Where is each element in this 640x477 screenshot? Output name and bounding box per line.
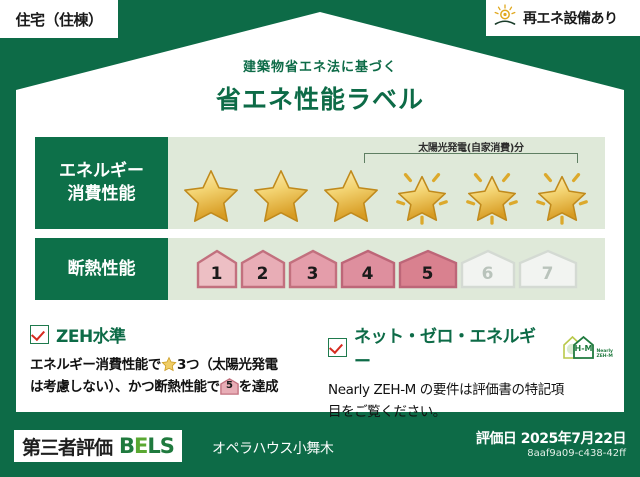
net-zero-energy-block: ネット・ゼロ・エネルギー H-M Nearly ZEH-M Nearly ZEH…	[328, 322, 613, 424]
energy-performance-row: エネルギー 消費性能 太陽光発電(自家消費)分	[35, 137, 605, 229]
renewable-equipment-tag: 再エネ設備あり	[486, 0, 640, 36]
energy-header-line1: エネルギー	[59, 160, 144, 183]
bels-logo-e: E	[134, 434, 147, 458]
grade-value: 3	[307, 264, 319, 289]
zeh-desc-part-b: は考慮しない）、かつ断熱性能で	[30, 379, 220, 395]
insulation-header-label: 断熱性能	[68, 258, 136, 281]
star-solar	[461, 165, 523, 227]
grade-value: 5	[422, 264, 434, 289]
nze-desc-part-a: Nearly ZEH-M の要件は評価書の特記項	[328, 382, 564, 398]
housing-type-label: 住宅（住棟）	[15, 9, 102, 30]
bels-logo: BELS	[119, 434, 174, 458]
star-solar	[391, 165, 453, 227]
housing-type-tag: 住宅（住棟）	[0, 0, 118, 38]
net-zero-energy-title: ネット・ゼロ・エネルギー	[354, 322, 551, 372]
svg-text:H-M: H-M	[575, 344, 593, 353]
check-icon	[328, 338, 347, 357]
grade-badge-3: 3	[288, 249, 338, 289]
net-zero-energy-header: ネット・ゼロ・エネルギー H-M Nearly ZEH-M	[328, 322, 613, 372]
energy-performance-header: エネルギー 消費性能	[35, 137, 168, 229]
inline-house-value: 5	[220, 378, 239, 395]
zeh-desc-star-count: 3つ（太陽光発電	[177, 357, 278, 373]
page-title: 省エネ性能ラベル	[0, 80, 640, 116]
grade-badge-1: 1	[196, 249, 238, 289]
zeh-standard-title: ZEH水準	[56, 322, 126, 347]
building-name: オペラハウス小舞木	[212, 438, 333, 458]
energy-star-area: 太陽光発電(自家消費)分	[168, 137, 605, 229]
grade-badge-4: 4	[340, 249, 396, 289]
grade-value: 6	[482, 264, 494, 289]
zeh-desc-part-c: を達成	[239, 379, 278, 395]
zeh-desc-part-a: エネルギー消費性能で	[30, 357, 161, 373]
footer-bar: 第三者評価 BELS オペラハウス小舞木 評価日 2025年7月22日 8aaf…	[0, 420, 640, 477]
solar-sun-icon	[492, 3, 518, 33]
title-subtitle: 建築物省エネ法に基づく	[0, 56, 640, 75]
energy-header-line2: 消費性能	[68, 183, 136, 206]
inline-star-icon	[161, 356, 177, 372]
insulation-grade-scale: 1 2 3	[168, 238, 605, 300]
zeh-standard-block: ZEH水準 エネルギー消費性能で3つ（太陽光発電は考慮しない）、かつ断熱性能で5…	[30, 322, 315, 399]
zeh-m-logo-sub2: ZEH-M	[596, 354, 612, 359]
grade-value: 4	[362, 264, 374, 289]
bels-logo-b: B	[119, 434, 134, 458]
zeh-standard-description: エネルギー消費性能で3つ（太陽光発電は考慮しない）、かつ断熱性能で5を達成	[30, 355, 315, 399]
grade-badge-6: 6	[460, 249, 516, 289]
evaluation-date-value: 2025年7月22日	[521, 431, 626, 447]
title-block: 建築物省エネ法に基づく 省エネ性能ラベル	[0, 56, 640, 116]
star-filled	[180, 165, 242, 227]
insulation-grade-area: 1 2 3	[168, 238, 605, 300]
renewable-equipment-label: 再エネ設備あり	[523, 8, 618, 28]
nze-desc-part-b: 目をご覧ください。	[328, 404, 446, 420]
check-icon	[30, 325, 49, 344]
grade-value: 7	[542, 264, 554, 289]
grade-value: 1	[211, 264, 223, 289]
zeh-m-logo-icon: H-M Nearly ZEH-M	[561, 334, 613, 360]
bels-logo-ls: LS	[147, 434, 174, 458]
insulation-performance-row: 断熱性能 1 2	[35, 238, 605, 300]
third-party-eval-label: 第三者評価	[22, 433, 112, 460]
grade-badge-2: 2	[240, 249, 286, 289]
grade-badge-7: 7	[518, 249, 578, 289]
evaluation-id: 8aaf9a09-c438-42ff	[527, 448, 626, 459]
star-solar	[531, 165, 593, 227]
bels-evaluation-chip: 第三者評価 BELS	[14, 430, 182, 462]
star-filled	[250, 165, 312, 227]
solar-range-bracket	[364, 153, 578, 163]
evaluation-date: 評価日 2025年7月22日	[476, 428, 626, 448]
evaluation-date-label: 評価日	[476, 431, 517, 447]
zeh-standard-header: ZEH水準	[30, 322, 315, 347]
grade-badge-5: 5	[398, 249, 458, 289]
grade-value: 2	[257, 264, 269, 289]
net-zero-energy-description: Nearly ZEH-M の要件は評価書の特記項目をご覧ください。	[328, 380, 613, 424]
energy-label-root: 住宅（住棟） 再エネ設備あり 建築物省エネ法に基づく 省エネ性能ラベル	[0, 0, 640, 477]
inline-house-badge-icon: 5	[220, 378, 239, 395]
star-rating	[168, 165, 605, 227]
solar-generation-note: 太陽光発電(自家消費)分	[360, 139, 582, 154]
insulation-performance-header: 断熱性能	[35, 238, 168, 300]
star-filled	[320, 165, 382, 227]
